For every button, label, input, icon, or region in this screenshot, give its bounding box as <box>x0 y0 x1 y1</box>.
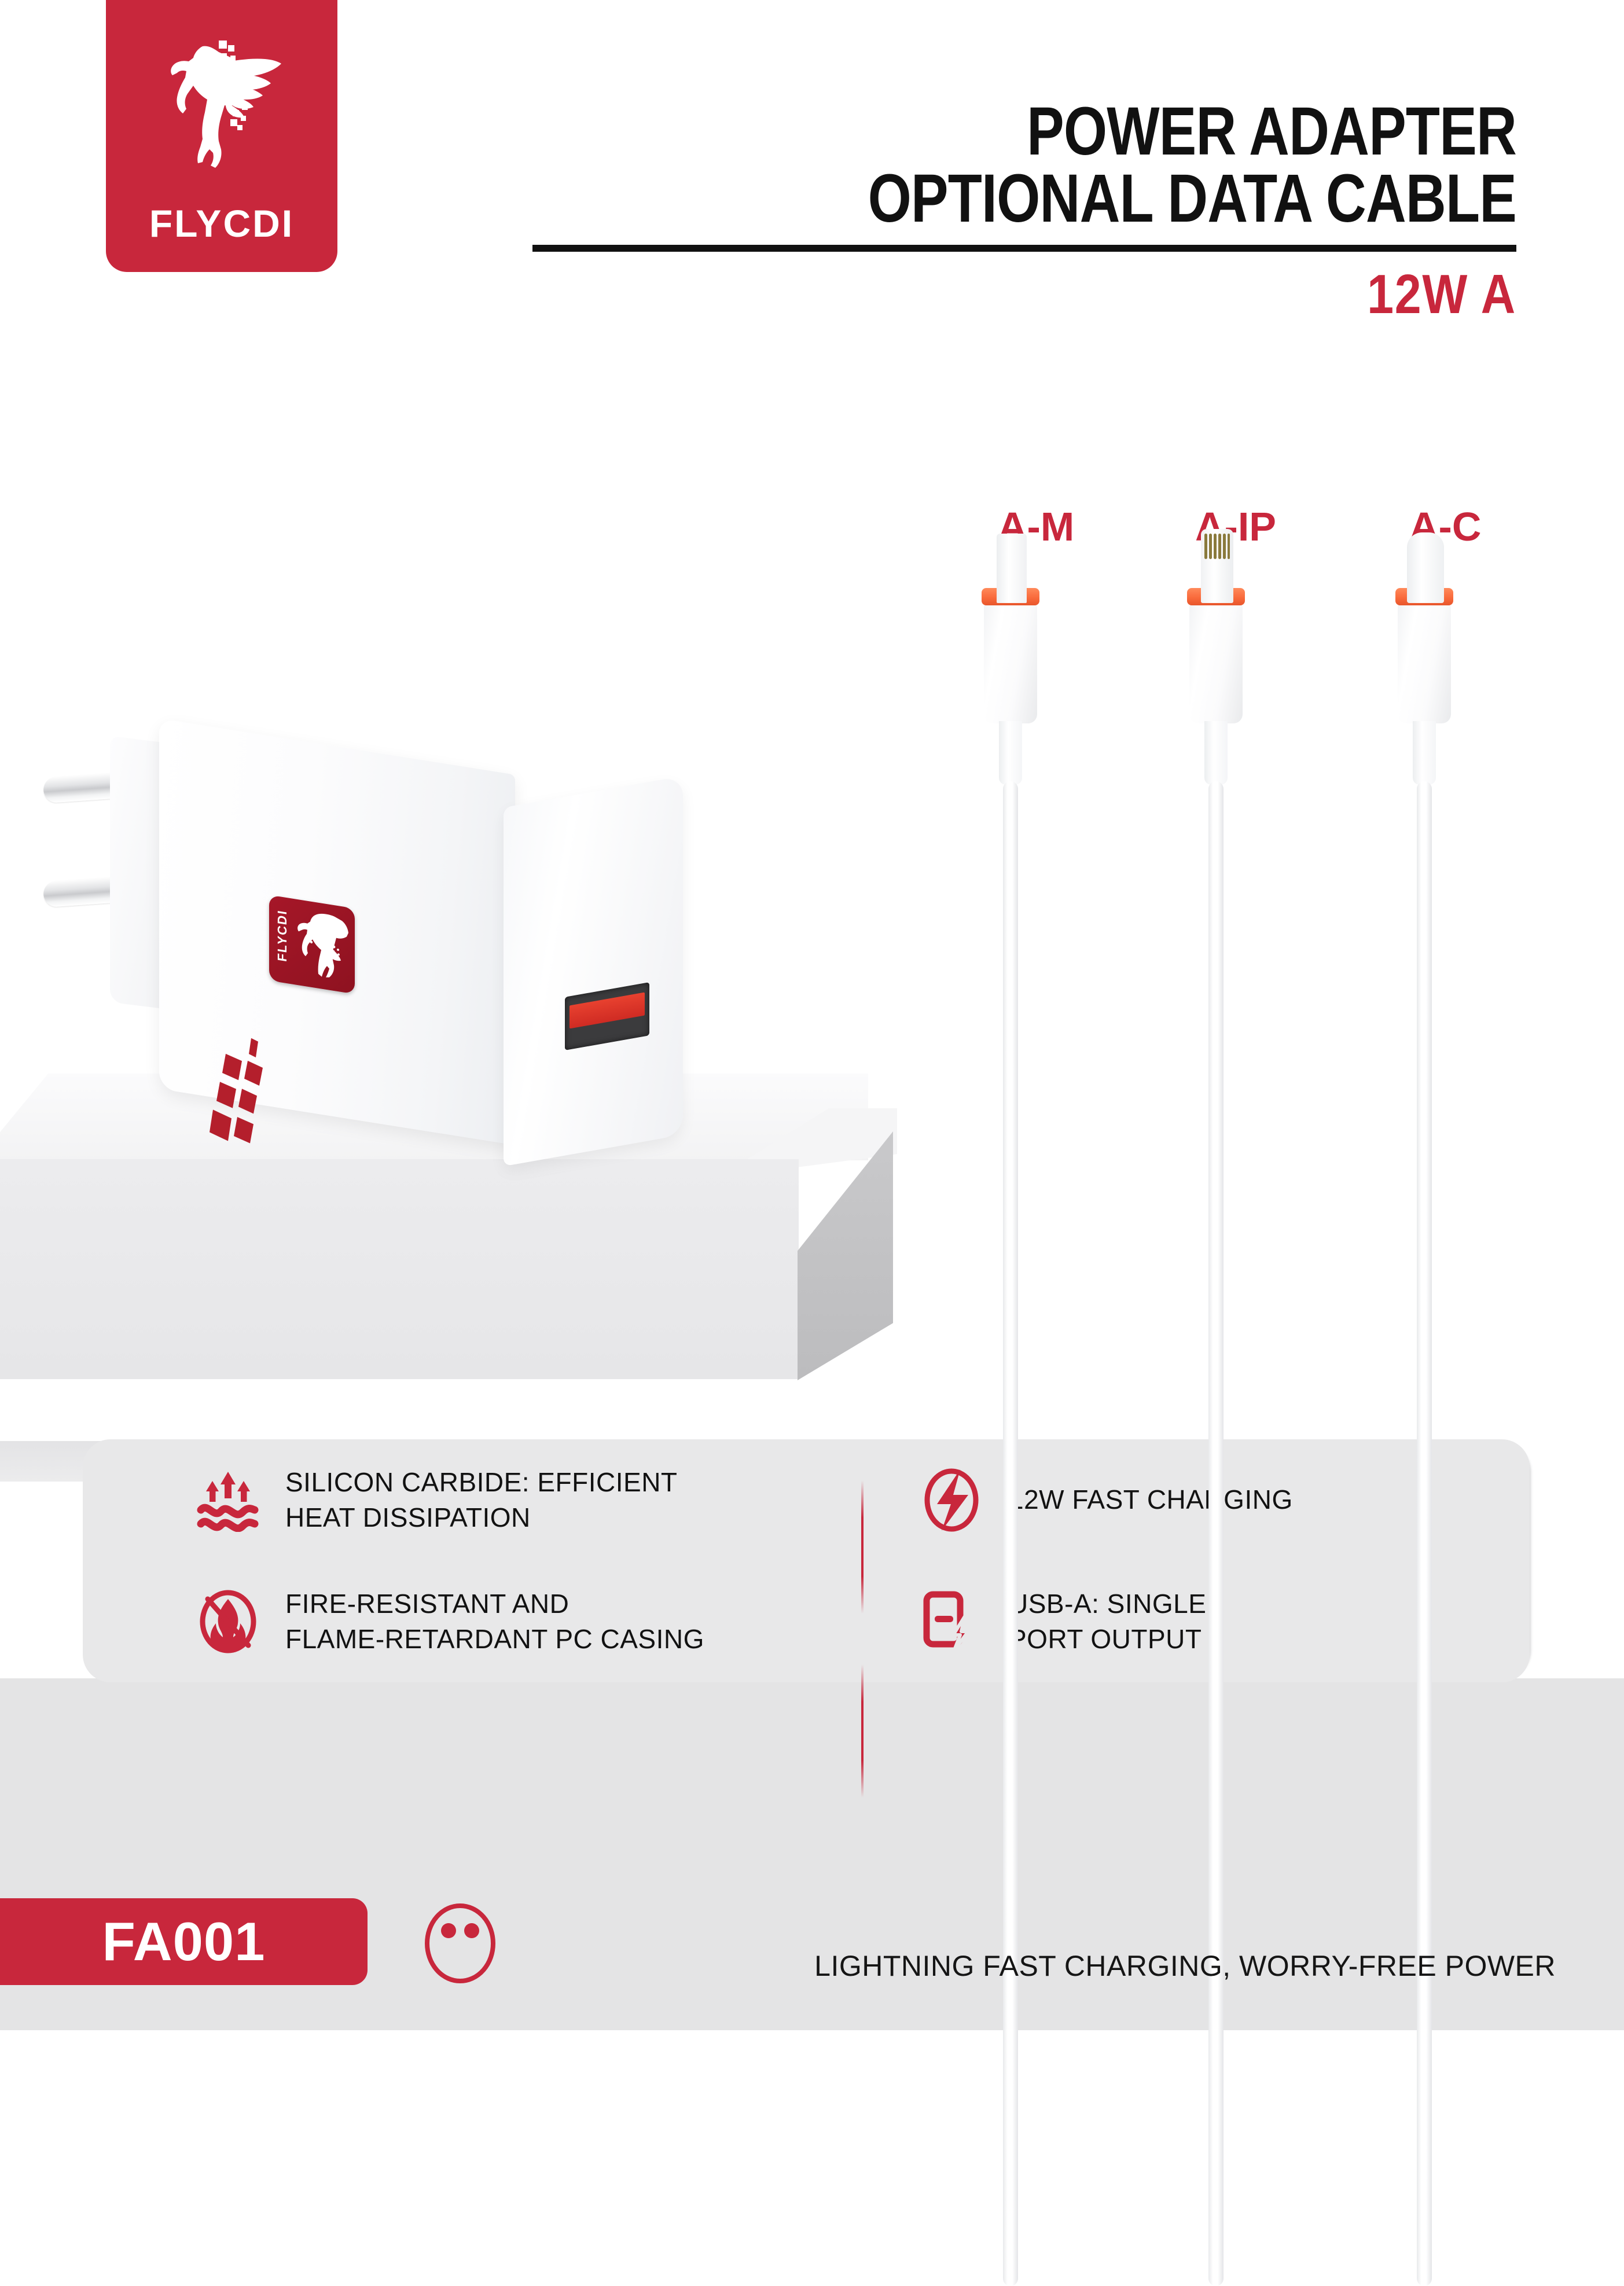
cable-strain-relief <box>1204 721 1228 785</box>
page-title-line-2: OPTIONAL DATA CABLE <box>700 166 1516 233</box>
feature-line-1: USB-A: SINGLE <box>1009 1586 1206 1622</box>
footer-tagline: LIGHTNING FAST CHARGING, WORRY-FREE POWE… <box>814 1949 1556 1983</box>
title-divider-rule <box>532 245 1516 252</box>
cable-wire-a-ip <box>1208 781 1223 2286</box>
feature-line-2: PORT OUTPUT <box>1009 1622 1206 1657</box>
fast-charging-bolt-icon <box>920 1468 983 1532</box>
adapter-logo-wordmark: FLYCDI <box>275 909 290 963</box>
cable-strain-relief <box>999 721 1022 785</box>
pedestal-side-face <box>798 1131 893 1380</box>
cable-wire-a-c <box>1417 781 1432 2286</box>
pegasus-logo-icon <box>149 28 294 184</box>
feature-text-fast-charging: 12W FAST CHARGING <box>1009 1482 1293 1517</box>
eu-plug-type-c-icon <box>420 1903 501 1984</box>
usb-a-single-port-icon <box>920 1590 983 1653</box>
feature-text-fire-resistant: FIRE-RESISTANT AND FLAME-RETARDANT PC CA… <box>285 1586 704 1657</box>
feature-line-1: 12W FAST CHARGING <box>1009 1482 1293 1517</box>
pegasus-logo-icon <box>296 907 349 984</box>
micro-usb-connector-icon <box>984 602 1037 723</box>
feature-column-divider-top <box>861 1480 864 1614</box>
micro-usb-tip <box>997 534 1027 603</box>
feature-grid: SILICON CARBIDE: EFFICIENT HEAT DISSIPAT… <box>83 1439 1530 1682</box>
cable-wire-a-m <box>1003 781 1018 2286</box>
adapter-body-front <box>504 776 683 1167</box>
header: POWER ADAPTER OPTIONAL DATA CABLE 12W A <box>521 98 1516 322</box>
fire-resistant-icon <box>196 1590 260 1653</box>
pixel-diamond-mark-icon <box>191 1028 284 1153</box>
cable-strain-relief <box>1413 721 1436 785</box>
heat-dissipation-icon <box>196 1468 260 1532</box>
lightning-connector-icon <box>1189 602 1243 723</box>
model-number: FA001 <box>102 1910 266 1973</box>
usb-port-tongue <box>569 993 645 1029</box>
model-number-tab: FA001 <box>0 1898 368 1985</box>
feature-text-heat-dissipation: SILICON CARBIDE: EFFICIENT HEAT DISSIPAT… <box>285 1465 678 1535</box>
feature-line-1: FIRE-RESISTANT AND <box>285 1586 704 1622</box>
lightning-tip <box>1201 529 1233 603</box>
adapter-logo-plate: FLYCDI <box>269 895 355 994</box>
feature-text-usb-a-single-port: USB-A: SINGLE PORT OUTPUT <box>1009 1586 1206 1657</box>
power-rating: 12W A <box>660 252 1516 322</box>
feature-line-2: HEAT DISSIPATION <box>285 1500 678 1535</box>
brand-badge: FLYCDI <box>106 0 337 272</box>
usb-c-tip <box>1407 532 1444 603</box>
feature-line-1: SILICON CARBIDE: EFFICIENT <box>285 1465 678 1500</box>
page-title-line-1: POWER ADAPTER <box>700 98 1516 166</box>
feature-item-heat-dissipation: SILICON CARBIDE: EFFICIENT HEAT DISSIPAT… <box>83 1439 806 1561</box>
feature-panel: SILICON CARBIDE: EFFICIENT HEAT DISSIPAT… <box>83 1439 1530 1682</box>
power-adapter-product: FLYCDI <box>98 747 764 1262</box>
lightning-pin-contacts <box>1201 529 1233 603</box>
usb-c-connector-icon <box>1398 602 1451 723</box>
feature-line-2: FLAME-RETARDANT PC CASING <box>285 1622 704 1657</box>
feature-item-fire-resistant: FIRE-RESISTANT AND FLAME-RETARDANT PC CA… <box>83 1561 806 1682</box>
feature-column-divider-bottom <box>861 1664 864 1798</box>
brand-wordmark: FLYCDI <box>106 201 337 245</box>
